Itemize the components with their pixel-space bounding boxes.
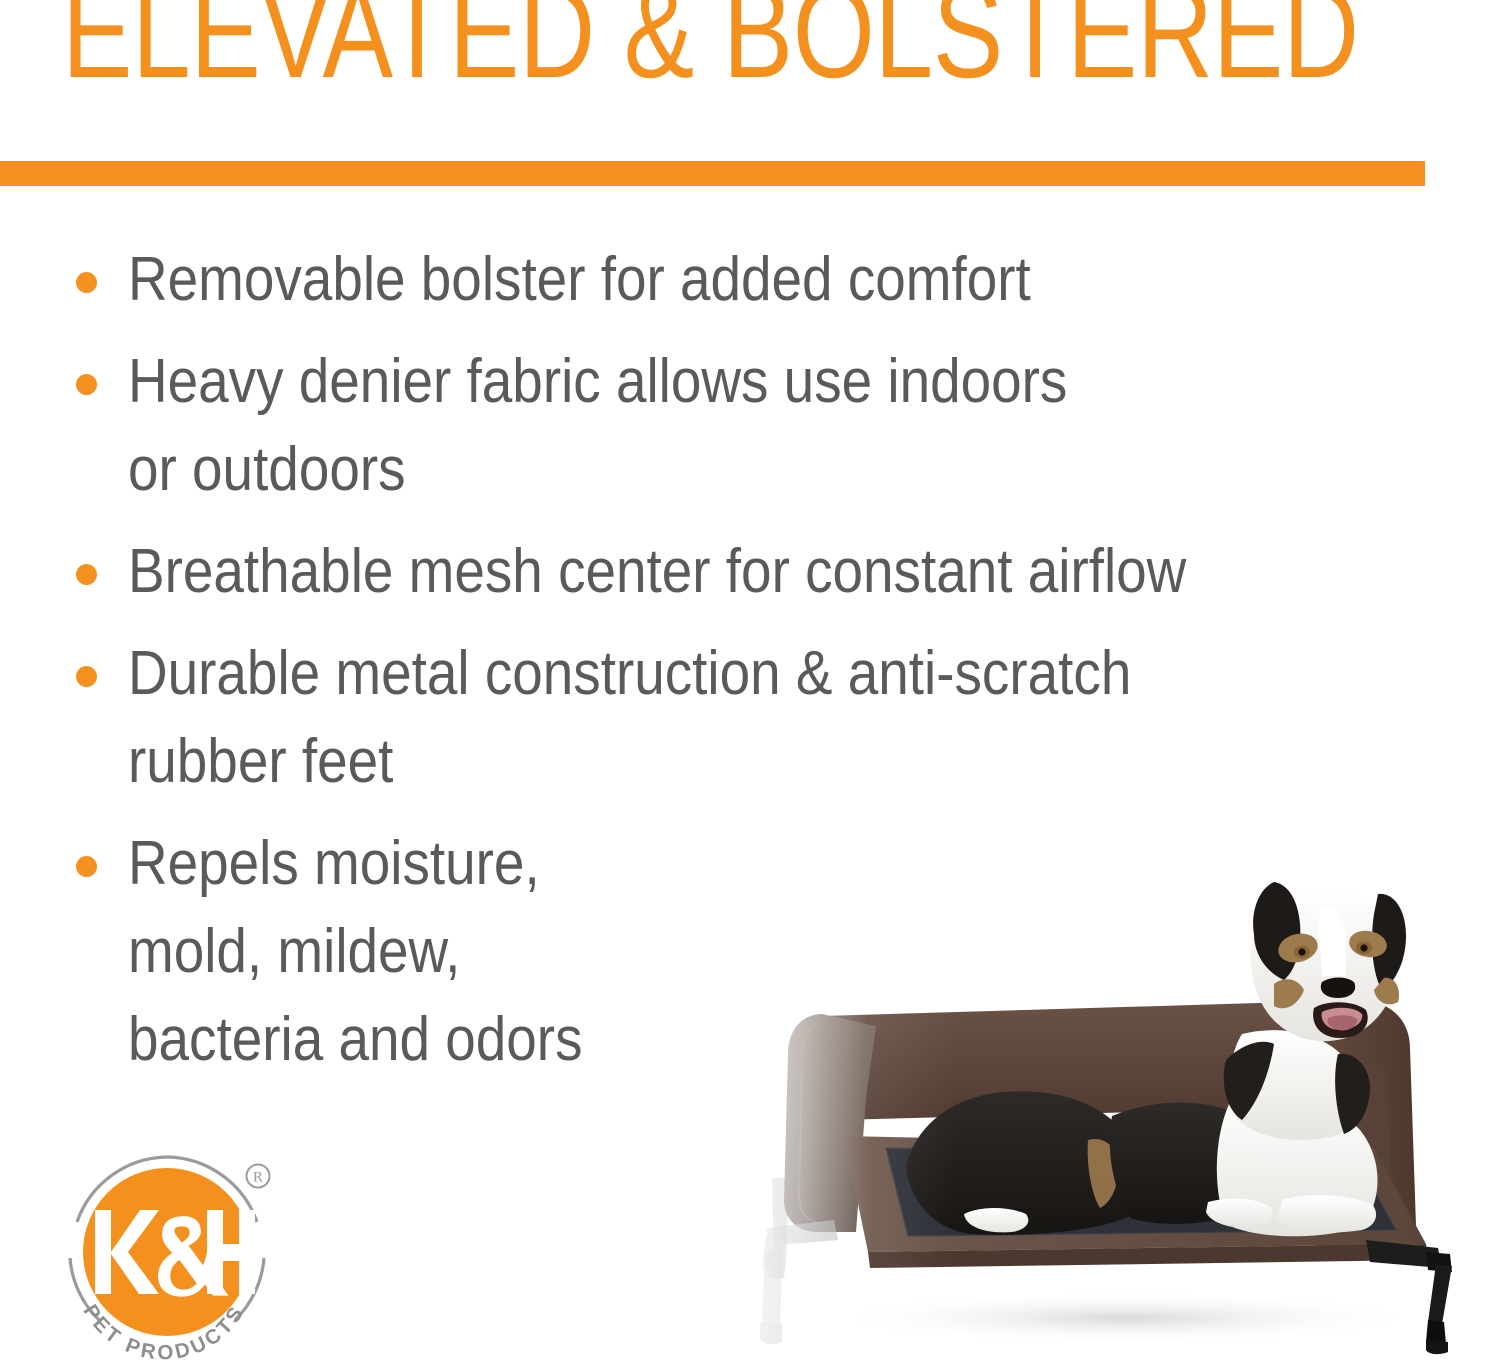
page-title: ELEVATED & BOLSTERED (62, 0, 1359, 98)
bullet-dot-icon (76, 374, 97, 395)
bullet-dot-icon (76, 666, 97, 687)
registered-trademark-icon: R (247, 1165, 270, 1188)
feature-text: Breathable mesh center for constant airf… (128, 528, 1316, 616)
marketing-infographic: ELEVATED & BOLSTERED Removable bolster f… (0, 0, 1500, 1359)
list-item: Durable metal construction & anti-scratc… (70, 630, 1470, 806)
bullet-dot-icon (76, 856, 97, 877)
feature-text: Durable metal construction & anti-scratc… (128, 630, 1316, 806)
svg-text:R: R (253, 1170, 263, 1186)
bullet-dot-icon (76, 564, 97, 585)
list-item: Removable bolster for added comfort (70, 236, 1470, 324)
orange-divider-rule (0, 161, 1425, 186)
product-photo-elevated-bolster-bed (726, 848, 1500, 1359)
brand-logo: R PET PRODUCTS (52, 1148, 282, 1360)
bullet-dot-icon (76, 272, 97, 293)
list-item: Heavy denier fabric allows use indoors o… (70, 338, 1470, 514)
list-item: Breathable mesh center for constant airf… (70, 528, 1470, 616)
feature-text: Removable bolster for added comfort (128, 236, 1316, 324)
photo-left-fade (726, 968, 956, 1359)
feature-text: Heavy denier fabric allows use indoors o… (128, 338, 1316, 514)
